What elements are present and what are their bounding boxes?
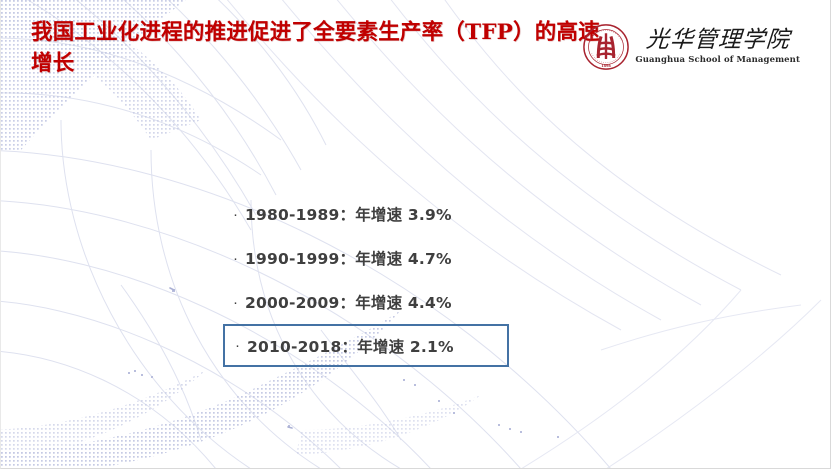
bullet-dot-icon: · — [235, 338, 247, 353]
svg-text:1898: 1898 — [602, 64, 612, 68]
bullet-dot-icon: · — [233, 207, 245, 222]
list-item: · 2000-2009：年增速 4.4% — [233, 280, 509, 324]
list-item-label: 2000-2009：年增速 4.4% — [245, 291, 452, 313]
list-item: · 1990-1999：年增速 4.7% — [233, 236, 509, 280]
list-item-highlighted: · 2010-2018：年增速 2.1% — [223, 324, 509, 367]
list-item-label: 2010-2018：年增速 2.1% — [247, 335, 454, 357]
page-title: 我国工业化进程的推进促进了全要素生产率（TFP）的高速增长 — [31, 18, 611, 79]
slide-canvas: 我国工业化进程的推进促进了全要素生产率（TFP）的高速增长 — [0, 0, 831, 469]
list-item-label: 1980-1989：年增速 3.9% — [245, 203, 452, 225]
list-item-label: 1990-1999：年增速 4.7% — [245, 247, 452, 269]
bullet-dot-icon: · — [233, 251, 245, 266]
title-block: 我国工业化进程的推进促进了全要素生产率（TFP）的高速增长 — [31, 18, 611, 79]
bullet-list: · 1980-1989：年增速 3.9% · 1990-1999：年增速 4.7… — [233, 192, 509, 367]
logo-text-column: 光华管理学院 Guanghua School of Management — [635, 29, 800, 65]
list-item: · 1980-1989：年增速 3.9% — [233, 192, 509, 236]
bullet-dot-icon: · — [233, 295, 245, 310]
peking-university-seal-icon: 1898 — [583, 24, 629, 70]
guanghua-logo: 1898 光华管理学院 Guanghua School of Managemen… — [583, 24, 800, 70]
logo-english-name: Guanghua School of Management — [635, 55, 800, 65]
logo-chinese-name: 光华管理学院 — [645, 29, 791, 52]
